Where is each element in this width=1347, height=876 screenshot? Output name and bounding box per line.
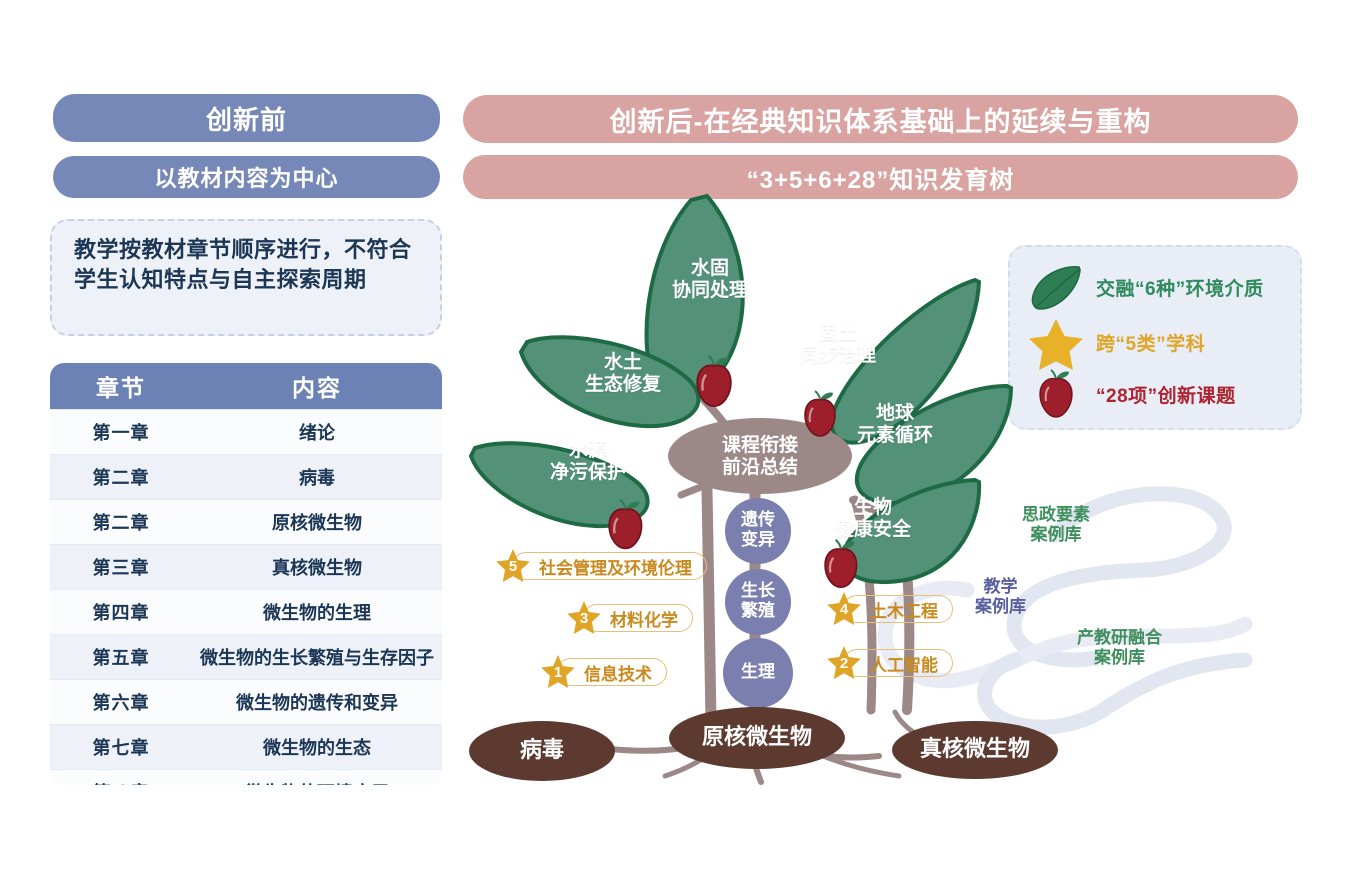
chapter-table: 章节 内容 第一章绪论第二章病毒第二章原核微生物第三章真核微生物第四章微生物的生… xyxy=(50,363,442,785)
star-label-3: 3 材料化学 xyxy=(565,603,693,633)
star-label-1: 1 信息技术 xyxy=(539,657,667,687)
table-row: 第六章微生物的遗传和变异 xyxy=(50,680,442,725)
root-ellipse-0 xyxy=(469,721,615,781)
trunk-node-2 xyxy=(723,638,793,708)
table-row: 第四章微生物的生理 xyxy=(50,590,442,635)
knowledge-tree-diagram xyxy=(455,190,1347,820)
star-number-1: 1 xyxy=(539,653,577,691)
star-number-2: 2 xyxy=(825,644,863,682)
star-number-4: 4 xyxy=(825,590,863,628)
root-ellipse-2 xyxy=(892,721,1058,779)
table-row: 第一章绪论 xyxy=(50,410,442,455)
table-header-content: 内容 xyxy=(192,363,442,410)
root-ellipse-1 xyxy=(669,707,845,769)
before-innovation-subtitle: 以教材内容为中心 xyxy=(53,156,440,198)
case-library-label-0-line2: 案例库 xyxy=(1031,525,1082,544)
table-row: 第二章原核微生物 xyxy=(50,500,442,545)
apple-icon-1 xyxy=(805,391,835,436)
case-library-label-2-line2: 案例库 xyxy=(1094,648,1145,667)
table-cell-content: 微生物的生长繁殖与生存因子 xyxy=(192,635,442,680)
table-row: 第三章真核微生物 xyxy=(50,545,442,590)
star-icon-2: 2 xyxy=(825,644,863,682)
star-icon-1: 1 xyxy=(539,653,577,691)
table-row: 第七章微生物的生态 xyxy=(50,725,442,770)
star-label-2: 2 人工智能 xyxy=(825,648,953,678)
table-cell-content: 病毒 xyxy=(192,455,442,500)
case-library-label-1-line1: 教学 xyxy=(984,577,1018,596)
case-library-label-0-line1: 思政要素 xyxy=(1022,505,1090,524)
table-row: 第八章微生物的环境应用 xyxy=(50,770,442,786)
case-library-label-1: 教学 案例库 xyxy=(975,577,1026,618)
table-cell-chapter: 第六章 xyxy=(50,680,192,725)
table-cell-content: 微生物的环境应用 xyxy=(192,770,442,786)
star-text-5: 社会管理及环境伦理 xyxy=(512,552,707,580)
case-library-label-2: 产教研融合 案例库 xyxy=(1077,628,1162,669)
after-innovation-title: 创新后-在经典知识体系基础上的延续与重构 xyxy=(463,95,1298,143)
table-cell-content: 微生物的生理 xyxy=(192,590,442,635)
table-cell-chapter: 第三章 xyxy=(50,545,192,590)
table-cell-content: 原核微生物 xyxy=(192,500,442,545)
case-library-label-0: 思政要素 案例库 xyxy=(1022,505,1090,546)
star-icon-4: 4 xyxy=(825,590,863,628)
table-header-row: 章节 内容 xyxy=(50,363,442,410)
star-number-3: 3 xyxy=(565,599,603,637)
star-number-5: 5 xyxy=(494,547,532,585)
table-header-chapter: 章节 xyxy=(50,363,192,410)
star-label-4: 4 土木工程 xyxy=(825,594,953,624)
table-cell-chapter: 第五章 xyxy=(50,635,192,680)
table-cell-chapter: 第八章 xyxy=(50,770,192,786)
table-cell-content: 微生物的遗传和变异 xyxy=(192,680,442,725)
before-innovation-title: 创新前 xyxy=(53,94,440,142)
star-icon-3: 3 xyxy=(565,599,603,637)
before-innovation-panel: 创新前 以教材内容为中心 教学按教材章节顺序进行，不符合学生认知特点与自主探索周… xyxy=(0,0,470,876)
table-cell-chapter: 第四章 xyxy=(50,590,192,635)
table-cell-content: 真核微生物 xyxy=(192,545,442,590)
trunk-node-1 xyxy=(725,569,791,635)
table-cell-chapter: 第二章 xyxy=(50,455,192,500)
table-cell-content: 微生物的生态 xyxy=(192,725,442,770)
before-innovation-note: 教学按教材章节顺序进行，不符合学生认知特点与自主探索周期 xyxy=(50,219,442,336)
table-cell-chapter: 第一章 xyxy=(50,410,192,455)
table-cell-chapter: 第二章 xyxy=(50,500,192,545)
case-library-label-2-line1: 产教研融合 xyxy=(1077,628,1162,647)
case-library-label-1-line2: 案例库 xyxy=(975,597,1026,616)
star-label-5: 5 社会管理及环境伦理 xyxy=(494,551,707,581)
table-row: 第二章病毒 xyxy=(50,455,442,500)
table-row: 第五章微生物的生长繁殖与生存因子 xyxy=(50,635,442,680)
table-cell-chapter: 第七章 xyxy=(50,725,192,770)
trunk-node-0 xyxy=(725,498,791,564)
table-cell-content: 绪论 xyxy=(192,410,442,455)
star-icon-5: 5 xyxy=(494,547,532,585)
